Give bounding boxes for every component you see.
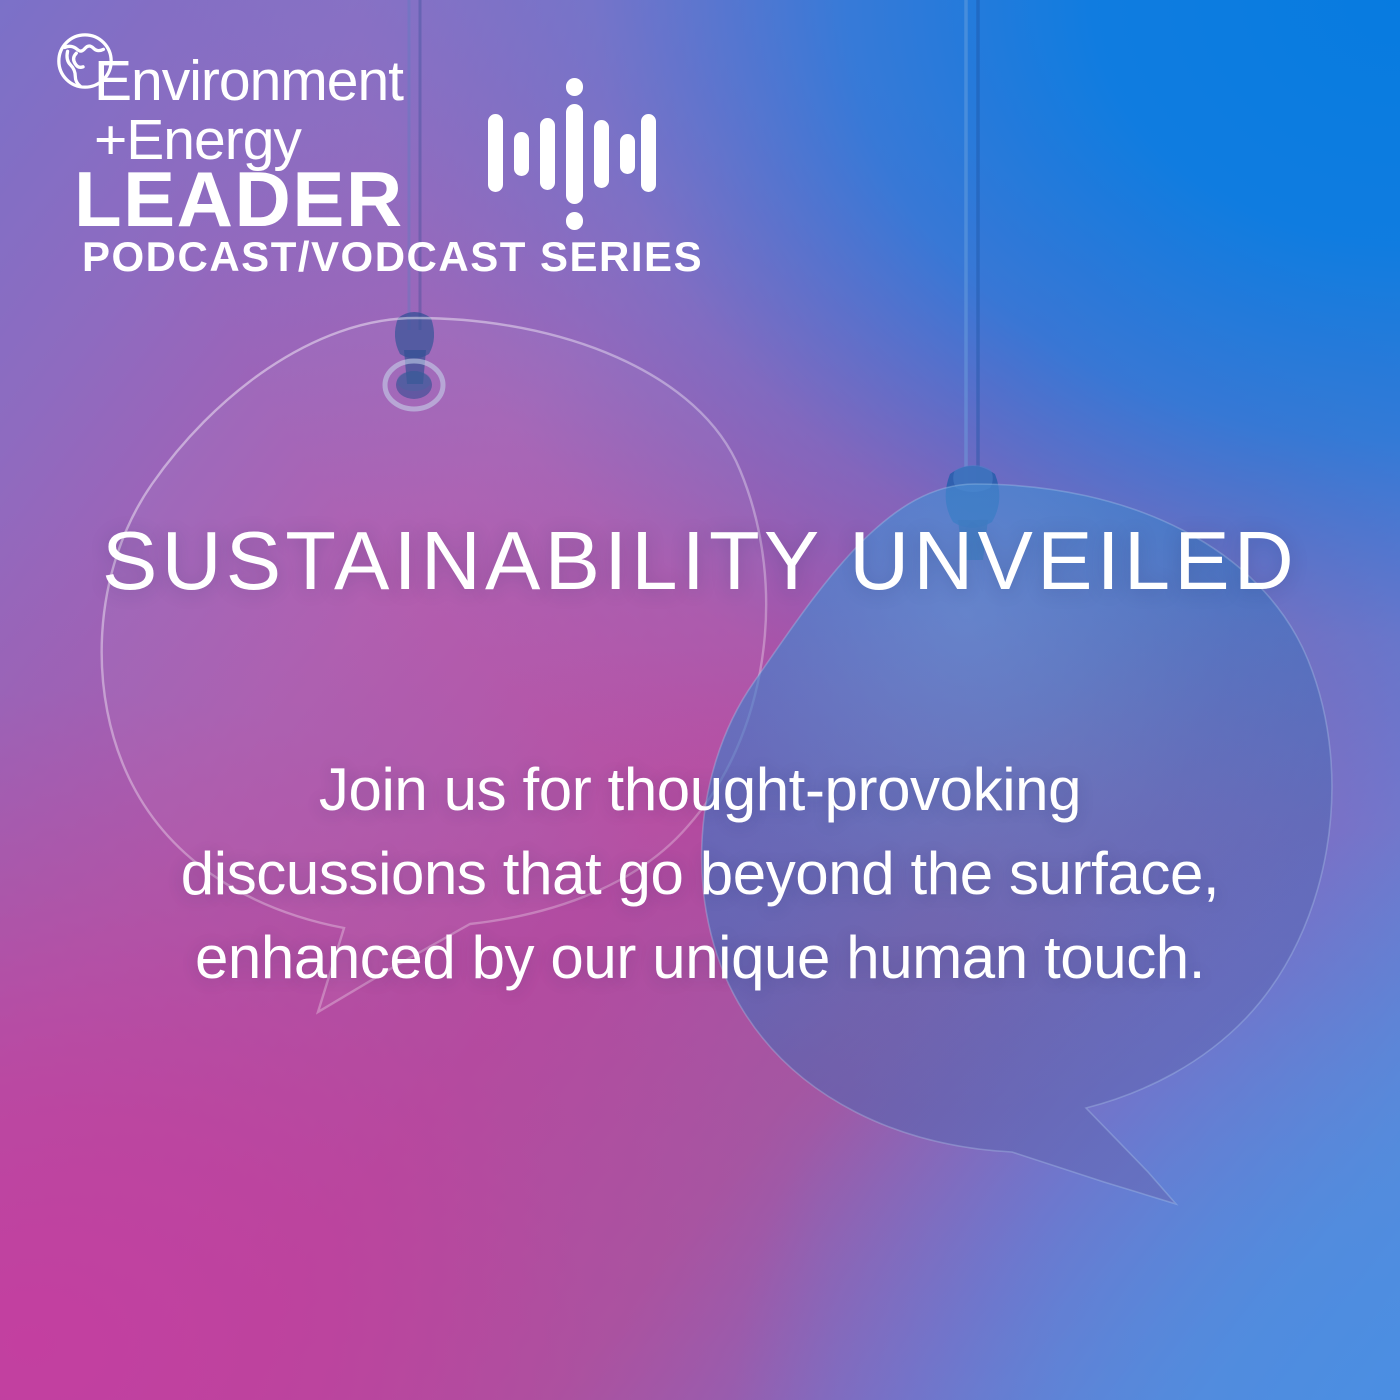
hanging-cord-right: [946, 0, 1000, 560]
page-title: SUSTAINABILITY UNVEILED: [0, 519, 1400, 602]
brand-line-environment: Environment: [94, 53, 403, 110]
brand-logo-block: Environment +Energy LEADER PODCAST/VODCA…: [46, 24, 726, 224]
hero-description-line: enhanced by our unique human touch.: [70, 916, 1330, 1000]
audio-waveform-icon: [486, 76, 656, 231]
hero-description-line: Join us for thought-provoking: [70, 748, 1330, 832]
hero-description: Join us for thought-provoking discussion…: [70, 748, 1330, 1000]
hero-description-line: discussions that go beyond the surface,: [70, 832, 1330, 916]
brand-logo-row: Environment +Energy LEADER PODCAST/VODCA…: [46, 24, 726, 224]
brand-line-leader: LEADER: [74, 160, 404, 238]
brand-line-series: PODCAST/VODCAST SERIES: [82, 236, 703, 278]
podcast-cover-canvas: Environment +Energy LEADER PODCAST/VODCA…: [0, 0, 1400, 1400]
